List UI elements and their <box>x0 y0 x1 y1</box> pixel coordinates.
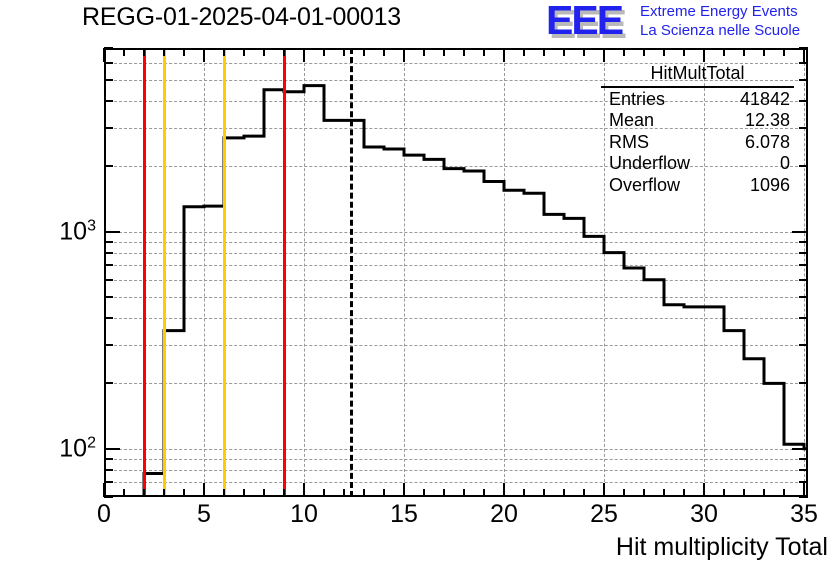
y-tick-minor-right <box>799 127 808 129</box>
x-tick-minor-top <box>323 48 325 56</box>
x-tick-minor-top <box>723 48 725 56</box>
stats-box: HitMultTotal Entries41842Mean12.38RMS6.0… <box>601 63 794 196</box>
y-tick-minor <box>104 165 113 167</box>
x-tick-minor-top <box>383 48 385 56</box>
x-tick-minor-top <box>543 48 545 56</box>
y-tick-major-right <box>792 448 808 450</box>
x-tick-label: 30 <box>690 500 718 529</box>
x-tick-major <box>503 483 505 497</box>
stats-title: HitMultTotal <box>601 63 794 88</box>
x-tick-major <box>103 483 105 497</box>
x-tick-minor <box>243 489 245 497</box>
x-tick-minor-top <box>643 48 645 56</box>
x-tick-major <box>403 483 405 497</box>
x-tick-major <box>703 483 705 497</box>
x-tick-minor <box>463 489 465 497</box>
page-title: REGG-01-2025-04-01-00013 <box>82 3 401 32</box>
x-tick-minor <box>443 489 445 497</box>
x-tick-minor <box>643 489 645 497</box>
y-tick-minor-right <box>799 165 808 167</box>
stats-value: 0 <box>780 153 790 175</box>
x-tick-minor-top <box>523 48 525 56</box>
x-tick-minor-top <box>743 48 745 56</box>
x-tick-minor-top <box>763 48 765 56</box>
x-tick-minor <box>163 489 165 497</box>
x-tick-minor <box>523 489 525 497</box>
y-tick-minor-right <box>799 100 808 102</box>
x-tick-label: 0 <box>97 500 111 529</box>
y-tick-minor-right <box>799 241 808 243</box>
stats-row: Underflow0 <box>601 153 794 175</box>
x-tick-major <box>203 483 205 497</box>
x-tick-minor <box>283 489 285 497</box>
x-tick-minor <box>423 489 425 497</box>
stats-value: 1096 <box>750 175 790 197</box>
x-tick-minor <box>223 489 225 497</box>
y-tick-minor <box>104 279 113 281</box>
y-tick-minor <box>104 458 113 460</box>
y-tick-label-exponent: 3 <box>87 217 96 234</box>
y-tick-minor-right <box>799 79 808 81</box>
x-tick-minor <box>363 489 365 497</box>
y-tick-minor <box>104 100 113 102</box>
stats-key: Underflow <box>609 153 690 175</box>
y-tick-minor <box>104 47 113 49</box>
stats-row: Entries41842 <box>601 89 794 111</box>
x-tick-major-top <box>503 48 505 62</box>
x-tick-minor <box>623 489 625 497</box>
x-tick-minor <box>583 489 585 497</box>
x-tick-minor <box>183 489 185 497</box>
y-tick-minor-right <box>799 469 808 471</box>
x-tick-label: 35 <box>790 500 818 529</box>
x-tick-minor <box>543 489 545 497</box>
eee-tagline-line2: La Scienza nelle Scuole <box>640 21 800 40</box>
y-tick-minor <box>104 127 113 129</box>
eee-letters: EEE <box>546 0 622 40</box>
x-tick-major-top <box>103 48 105 62</box>
y-tick-label-base: 10 <box>59 434 87 462</box>
stats-value: 6.078 <box>745 132 790 154</box>
x-tick-minor-top <box>183 48 185 56</box>
y-tick-label: 102 <box>28 434 96 463</box>
y-tick-minor <box>104 469 113 471</box>
x-tick-minor-top <box>143 48 145 56</box>
y-tick-minor <box>104 296 113 298</box>
y-tick-minor <box>104 317 113 319</box>
y-tick-minor-right <box>799 264 808 266</box>
x-tick-minor <box>383 489 385 497</box>
x-tick-minor-top <box>583 48 585 56</box>
x-tick-major-top <box>303 48 305 62</box>
eee-tagline: Extreme Energy Events La Scienza nelle S… <box>640 2 800 40</box>
x-tick-minor-top <box>683 48 685 56</box>
x-tick-label: 5 <box>197 500 211 529</box>
y-tick-minor <box>104 264 113 266</box>
x-tick-major-top <box>803 48 805 62</box>
x-tick-minor-top <box>443 48 445 56</box>
stats-row: RMS6.078 <box>601 132 794 154</box>
y-tick-major-right <box>792 231 808 233</box>
x-tick-minor <box>323 489 325 497</box>
x-tick-minor-top <box>263 48 265 56</box>
x-tick-minor-top <box>223 48 225 56</box>
x-tick-minor <box>483 489 485 497</box>
x-tick-minor <box>783 489 785 497</box>
x-tick-major-top <box>403 48 405 62</box>
y-tick-minor-right <box>799 382 808 384</box>
stats-key: Overflow <box>609 175 680 197</box>
y-tick-minor-right <box>799 344 808 346</box>
x-tick-minor <box>263 489 265 497</box>
x-tick-minor-top <box>783 48 785 56</box>
x-tick-minor-top <box>283 48 285 56</box>
y-tick-major <box>104 231 120 233</box>
x-tick-minor-top <box>243 48 245 56</box>
y-tick-minor-right <box>799 62 808 64</box>
y-tick-minor-right <box>799 252 808 254</box>
x-tick-major-top <box>203 48 205 62</box>
x-tick-minor-top <box>123 48 125 56</box>
y-tick-minor-right <box>799 458 808 460</box>
stats-key: Entries <box>609 89 665 111</box>
x-tick-minor <box>663 489 665 497</box>
x-tick-major-top <box>603 48 605 62</box>
x-tick-minor-top <box>343 48 345 56</box>
y-tick-minor-right <box>799 317 808 319</box>
x-tick-minor <box>343 489 345 497</box>
y-tick-minor <box>104 252 113 254</box>
stats-value: 41842 <box>740 89 790 111</box>
x-tick-minor <box>563 489 565 497</box>
y-tick-minor <box>104 241 113 243</box>
y-tick-label-base: 10 <box>59 217 87 245</box>
x-tick-major-top <box>703 48 705 62</box>
y-tick-label-exponent: 2 <box>87 434 96 451</box>
y-tick-minor-right <box>799 481 808 483</box>
x-tick-major <box>303 483 305 497</box>
x-tick-minor <box>123 489 125 497</box>
x-tick-label: 15 <box>390 500 418 529</box>
y-tick-minor <box>104 62 113 64</box>
x-tick-minor-top <box>623 48 625 56</box>
x-axis-title: Hit multiplicity Total <box>616 533 828 562</box>
y-tick-minor <box>104 344 113 346</box>
eee-tagline-line1: Extreme Energy Events <box>640 2 800 21</box>
y-tick-minor <box>104 481 113 483</box>
x-tick-major <box>803 483 805 497</box>
x-tick-minor <box>723 489 725 497</box>
stats-row: Overflow1096 <box>601 175 794 197</box>
stats-key: Mean <box>609 110 654 132</box>
y-tick-label: 103 <box>28 217 96 246</box>
y-tick-minor-right <box>799 496 808 498</box>
y-tick-minor-right <box>799 47 808 49</box>
x-tick-minor <box>763 489 765 497</box>
x-tick-minor <box>143 489 145 497</box>
x-tick-label: 25 <box>590 500 618 529</box>
x-tick-minor <box>743 489 745 497</box>
x-tick-minor-top <box>663 48 665 56</box>
x-tick-minor-top <box>463 48 465 56</box>
x-tick-label: 10 <box>290 500 318 529</box>
x-tick-minor <box>683 489 685 497</box>
x-tick-minor-top <box>423 48 425 56</box>
stats-row: Mean12.38 <box>601 110 794 132</box>
x-tick-label: 20 <box>490 500 518 529</box>
y-tick-minor-right <box>799 279 808 281</box>
x-tick-minor-top <box>163 48 165 56</box>
y-tick-minor <box>104 496 113 498</box>
x-tick-minor-top <box>363 48 365 56</box>
x-tick-minor-top <box>563 48 565 56</box>
stats-value: 12.38 <box>745 110 790 132</box>
y-tick-minor-right <box>799 296 808 298</box>
y-tick-minor <box>104 79 113 81</box>
eee-logo: EEE Extreme Energy Events La Scienza nel… <box>546 2 832 42</box>
x-tick-minor-top <box>483 48 485 56</box>
x-tick-major <box>603 483 605 497</box>
stats-key: RMS <box>609 132 649 154</box>
y-tick-minor <box>104 382 113 384</box>
y-tick-major <box>104 448 120 450</box>
